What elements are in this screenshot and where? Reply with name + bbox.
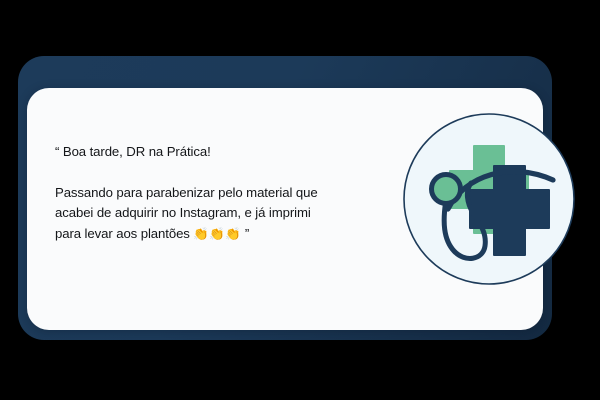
testimonial-quote: “ Boa tarde, DR na Prática! Passando par… (55, 142, 405, 244)
quote-greeting-text: Boa tarde, DR na Prática! (63, 144, 211, 159)
quote-body: Passando para parabenizar pelo material … (55, 183, 405, 245)
quote-body-line-3: para levar aos plantões (55, 226, 190, 241)
dr-na-pratica-logo (403, 113, 575, 285)
close-quote-mark: ” (245, 226, 249, 241)
screenshot-canvas: “ Boa tarde, DR na Prática! Passando par… (0, 0, 600, 400)
open-quote-mark: “ (55, 144, 59, 159)
quote-body-line-1: Passando para parabenizar pelo material … (55, 185, 318, 200)
clapping-hands-emoji: 👏👏👏 (193, 227, 241, 241)
stethoscope-earpiece-icon (432, 175, 461, 204)
quote-greeting-line: “ Boa tarde, DR na Prática! (55, 142, 405, 163)
quote-body-line-2: acabei de adquirir no Instagram, e já im… (55, 205, 311, 220)
